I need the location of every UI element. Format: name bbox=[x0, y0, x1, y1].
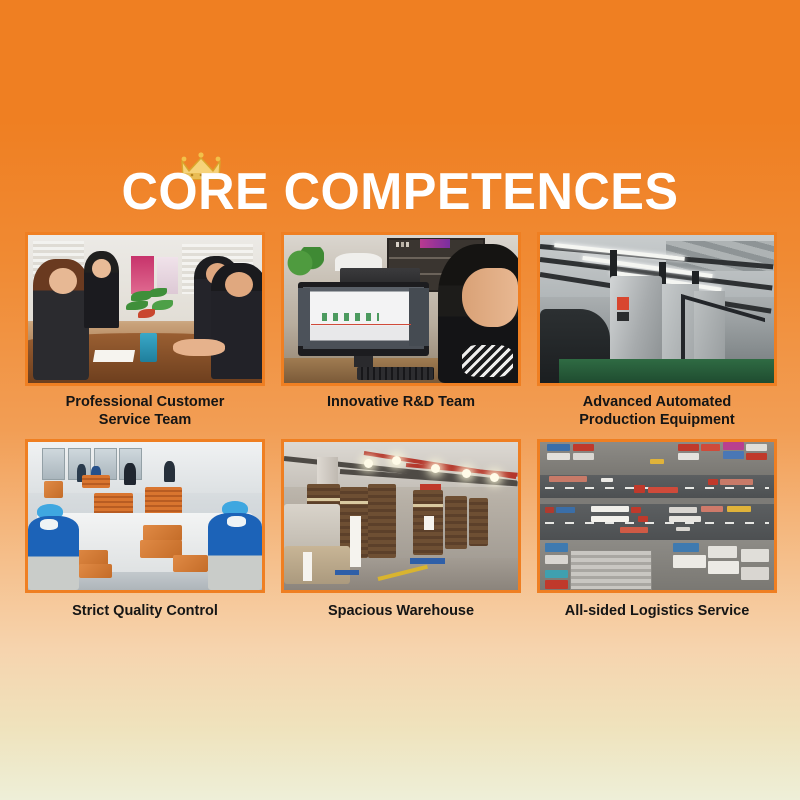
page-title: CORE COMPETENCES bbox=[12, 152, 788, 218]
caption-6: All-sided Logistics Service bbox=[537, 602, 777, 620]
photo-professional-customer-service-team bbox=[25, 232, 265, 386]
photo-all-sided-logistics-service bbox=[537, 439, 777, 593]
photo-innovative-rd-team bbox=[281, 232, 521, 386]
photo-advanced-automated-production-equipment bbox=[537, 232, 777, 386]
caption-3: Advanced Automated Production Equipment bbox=[537, 393, 777, 429]
photo-strict-quality-control bbox=[25, 439, 265, 593]
caption-4: Strict Quality Control bbox=[25, 602, 265, 620]
caption-5: Spacious Warehouse bbox=[281, 602, 521, 620]
title-block: CORE COMPETENCES bbox=[0, 152, 800, 218]
competence-grid: Professional Customer Service Team bbox=[25, 232, 777, 620]
caption-1: Professional Customer Service Team bbox=[25, 393, 265, 429]
competence-card-5[interactable]: Spacious Warehouse bbox=[281, 439, 521, 620]
photo-spacious-warehouse bbox=[281, 439, 521, 593]
competence-card-2[interactable]: Innovative R&D Team bbox=[281, 232, 521, 429]
competence-card-1[interactable]: Professional Customer Service Team bbox=[25, 232, 265, 429]
competence-card-3[interactable]: Advanced Automated Production Equipment bbox=[537, 232, 777, 429]
core-competences-poster: CORE COMPETENCES bbox=[0, 0, 800, 800]
competence-card-4[interactable]: Strict Quality Control bbox=[25, 439, 265, 620]
caption-2: Innovative R&D Team bbox=[281, 393, 521, 411]
competence-card-6[interactable]: All-sided Logistics Service bbox=[537, 439, 777, 620]
